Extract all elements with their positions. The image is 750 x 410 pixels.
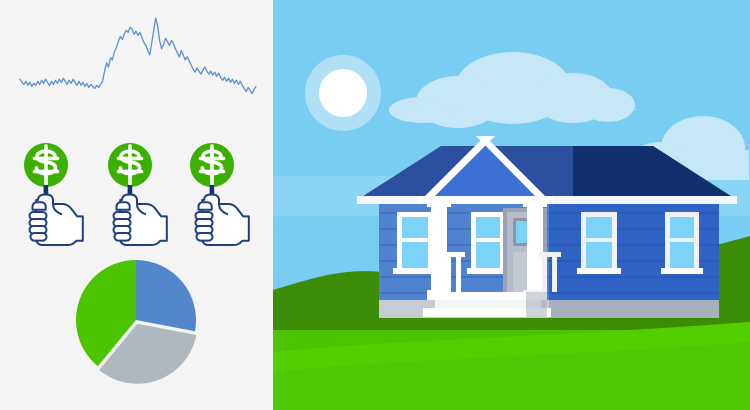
house-illustration-panel [273, 0, 750, 410]
sun-icon [305, 55, 381, 131]
house-scene-svg [273, 0, 750, 410]
trend-line-path [20, 18, 256, 93]
market-trend-line-chart [14, 8, 262, 130]
hand-dollar-icon [184, 138, 260, 248]
hand-holding-dollar-3[interactable] [184, 138, 260, 248]
hand-holding-dollar-1[interactable] [18, 138, 94, 248]
hand-holding-dollar-group [18, 138, 263, 248]
illustration-stage [0, 0, 750, 410]
fist-icon [114, 195, 167, 245]
portfolio-allocation-pie-chart [66, 252, 206, 392]
porch-steps-icon [423, 292, 551, 317]
line-chart-svg [14, 8, 262, 130]
sun-core [319, 69, 367, 117]
hand-dollar-icon [18, 138, 94, 248]
window-icon[interactable] [467, 212, 509, 274]
fist-icon [30, 195, 83, 245]
window-icon[interactable] [661, 212, 703, 274]
fist-icon [196, 195, 249, 245]
finance-charts-panel [0, 0, 273, 410]
hand-dollar-icon [102, 138, 178, 248]
window-icon[interactable] [577, 212, 621, 274]
hand-holding-dollar-2[interactable] [102, 138, 178, 248]
window-icon[interactable] [393, 212, 437, 274]
pie-slice-group [76, 260, 196, 384]
pie-chart-svg [66, 252, 206, 392]
pie-slice[interactable] [136, 260, 196, 331]
